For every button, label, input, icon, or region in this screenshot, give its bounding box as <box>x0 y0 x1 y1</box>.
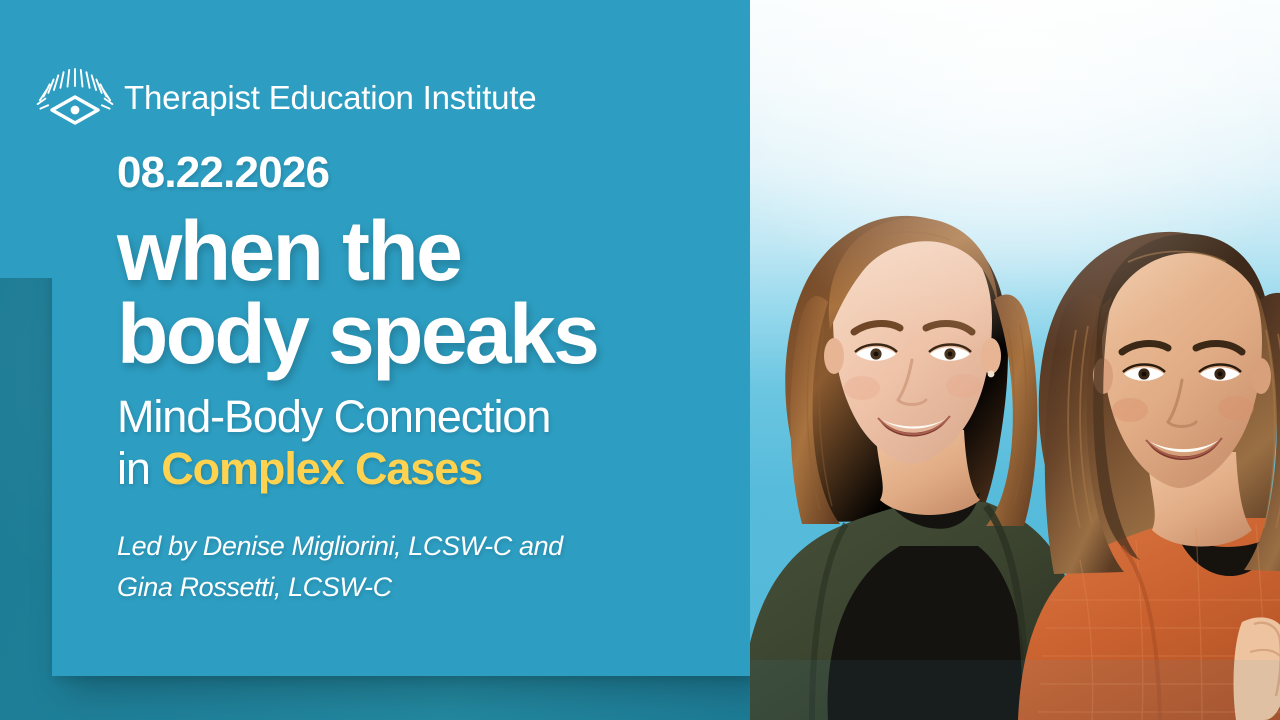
presenters-photo <box>750 0 1280 720</box>
subtitle: Mind-Body Connection in Complex Cases <box>117 391 737 496</box>
presenter-line-2: Gina Rossetti, LCSW-C <box>117 567 737 608</box>
subtitle-line-2: in Complex Cases <box>117 443 737 496</box>
presenter-credits: Led by Denise Migliorini, LCSW-C and Gin… <box>117 526 737 608</box>
headline-line-1: when the <box>117 210 737 293</box>
eye-sunburst-icon <box>36 66 114 128</box>
brand-lockup[interactable]: Therapist Education Institute <box>36 66 536 128</box>
subtitle-line-1: Mind-Body Connection <box>117 391 737 444</box>
event-date: 08.22.2026 <box>117 150 737 196</box>
page-title: when the body speaks <box>117 210 737 376</box>
presenter-line-1: Led by Denise Migliorini, LCSW-C and <box>117 526 737 567</box>
subtitle-accent: Complex Cases <box>161 443 482 494</box>
copy-block: 08.22.2026 when the body speaks Mind-Bod… <box>117 150 737 608</box>
headline-line-2: body speaks <box>117 293 737 376</box>
subtitle-prefix: in <box>117 443 161 494</box>
brand-name: Therapist Education Institute <box>124 81 536 114</box>
promo-banner: Therapist Education Institute 08.22.2026… <box>0 0 1280 720</box>
